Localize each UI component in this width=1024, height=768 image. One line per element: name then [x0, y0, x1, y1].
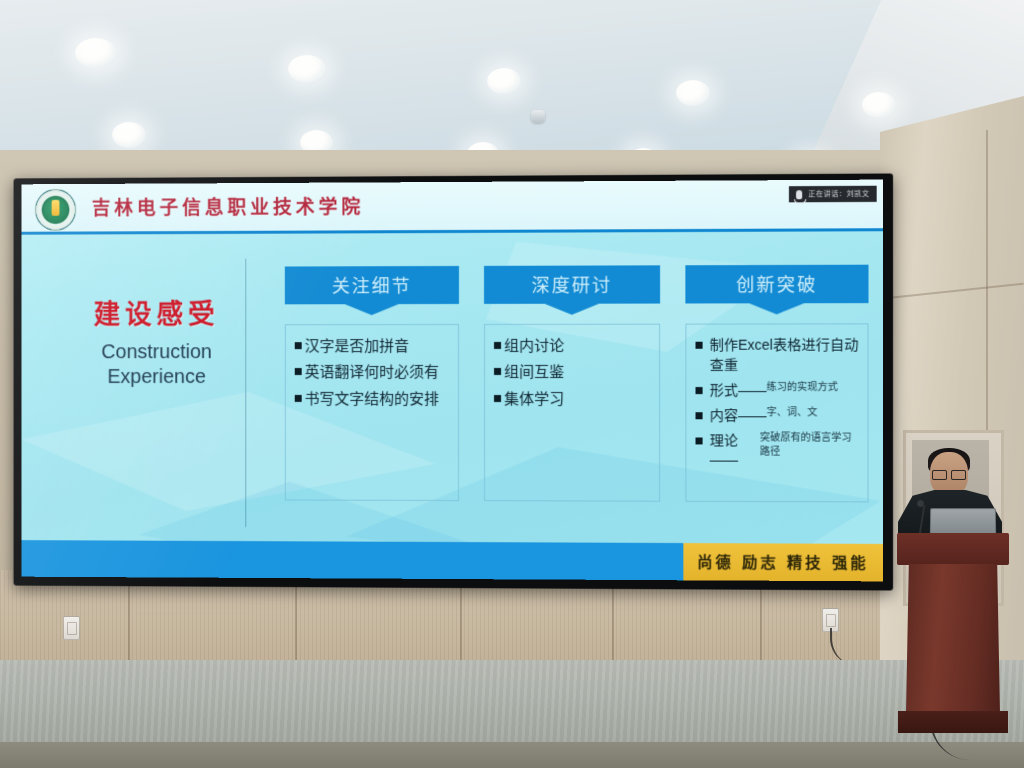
bullet-square-icon — [295, 368, 302, 375]
list-item-text: 组间互鉴 — [504, 362, 564, 383]
column-2-heading: 深度研讨 — [484, 265, 660, 304]
ceiling-light — [75, 38, 117, 68]
bullet-square-icon — [696, 437, 703, 444]
list-item: 书写文字结构的安排 — [295, 389, 450, 410]
list-item-text: 内容—— — [710, 406, 767, 426]
podium-top — [897, 533, 1009, 565]
list-item: 形式——练习的实现方式 — [696, 381, 860, 401]
list-item: 理论——突破原有的语言学习路径 — [696, 431, 860, 471]
podium-body — [906, 564, 1000, 714]
list-item: 内容——字、词、文 — [696, 406, 860, 426]
presenter-glasses — [932, 470, 966, 478]
heading-notch — [749, 303, 804, 314]
content-column-1: 关注细节 汉字是否加拼音 英语翻译何时必须有 书写文字结构的安排 — [285, 266, 459, 501]
bullet-square-icon — [696, 412, 703, 419]
list-item-text: 制作Excel表格进行自动查重 — [710, 335, 860, 375]
column-1-body: 汉字是否加拼音 英语翻译何时必须有 书写文字结构的安排 — [285, 324, 459, 501]
list-item-text: 汉字是否加拼音 — [305, 336, 409, 357]
slide-header: 吉林电子信息职业技术学院 — [21, 180, 882, 232]
stage-edge — [0, 742, 1024, 768]
ceiling-light — [676, 80, 710, 106]
smoke-detector-icon — [531, 110, 545, 123]
column-3-heading: 创新突破 — [685, 265, 868, 304]
list-item: 组内讨论 — [494, 336, 651, 358]
bullet-square-icon — [696, 387, 703, 394]
column-1-heading: 关注细节 — [285, 266, 459, 304]
list-item-text: 英语翻译何时必须有 — [305, 362, 439, 383]
column-3-body: 制作Excel表格进行自动查重 形式——练习的实现方式 内容——字、词、文 理论… — [685, 323, 868, 502]
list-item-text: 集体学习 — [504, 389, 564, 410]
footer-motto-band: 尚德 励志 精技 强能 — [683, 543, 882, 581]
ceiling-light — [112, 122, 146, 148]
slide-footer: 尚德 励志 精技 强能 — [21, 540, 882, 581]
emblem-mark — [52, 200, 60, 216]
list-item: 集体学习 — [494, 389, 651, 410]
slide-title-en: Construction Experience — [68, 340, 245, 390]
list-item: 英语翻译何时必须有 — [295, 362, 450, 383]
list-item-text: 形式—— — [710, 381, 767, 401]
podium-base — [898, 711, 1008, 733]
list-item-subtext: 突破原有的语言学习路径 — [760, 431, 859, 460]
list-item: 制作Excel表格进行自动查重 — [696, 335, 860, 375]
podium — [897, 533, 1009, 743]
projection-screen: 吉林电子信息职业技术学院 正在讲话：刘凯文 建设感受 Construction … — [21, 180, 882, 582]
list-item-text: 理论—— — [710, 431, 760, 471]
bullet-square-icon — [494, 342, 501, 349]
list-item-text: 书写文字结构的安排 — [305, 389, 439, 410]
microphone-icon — [796, 190, 802, 199]
speaking-indicator-badge: 正在讲话：刘凯文 — [789, 186, 877, 203]
list-item: 汉字是否加拼音 — [295, 336, 450, 357]
vertical-divider — [245, 259, 246, 528]
list-item-subtext: 字、词、文 — [767, 406, 818, 420]
column-3-heading-text: 创新突破 — [736, 271, 817, 297]
school-name: 吉林电子信息职业技术学院 — [92, 192, 365, 220]
wall-outlet[interactable] — [63, 616, 80, 640]
content-column-2: 深度研讨 组内讨论 组间互鉴 集体学习 — [484, 265, 660, 501]
ceiling-light — [487, 68, 521, 94]
slide-title-en-line2: Experience — [68, 365, 245, 390]
ceiling-light — [862, 92, 896, 118]
speaking-indicator-text: 正在讲话：刘凯文 — [808, 189, 869, 199]
microphone-head-icon — [917, 500, 924, 507]
slide-title-block: 建设感受 Construction Experience — [68, 292, 245, 389]
slide-title-en-line1: Construction — [68, 340, 245, 365]
column-2-heading-text: 深度研讨 — [532, 272, 612, 298]
column-2-body: 组内讨论 组间互鉴 集体学习 — [484, 324, 660, 502]
bullet-square-icon — [696, 342, 703, 349]
ceiling-light — [288, 55, 326, 83]
heading-notch — [545, 304, 599, 315]
list-item-text: 组内讨论 — [504, 336, 564, 357]
content-column-3: 创新突破 制作Excel表格进行自动查重 形式——练习的实现方式 内容——字、词… — [685, 265, 868, 503]
column-1-heading-text: 关注细节 — [332, 272, 412, 298]
bullet-square-icon — [295, 395, 302, 402]
list-item-subtext: 练习的实现方式 — [767, 381, 838, 395]
bullet-square-icon — [494, 395, 501, 402]
bullet-square-icon — [295, 342, 302, 349]
list-item: 组间互鉴 — [494, 362, 651, 383]
bullet-square-icon — [494, 368, 501, 375]
slide-title-cn: 建设感受 — [68, 292, 245, 331]
presentation-slide: 吉林电子信息职业技术学院 正在讲话：刘凯文 建设感受 Construction … — [21, 180, 882, 582]
lecture-hall-photo: 吉林电子信息职业技术学院 正在讲话：刘凯文 建设感受 Construction … — [0, 0, 1024, 768]
heading-notch — [345, 304, 399, 315]
footer-motto-text: 尚德 励志 精技 强能 — [697, 551, 869, 573]
school-emblem-icon — [35, 189, 76, 231]
